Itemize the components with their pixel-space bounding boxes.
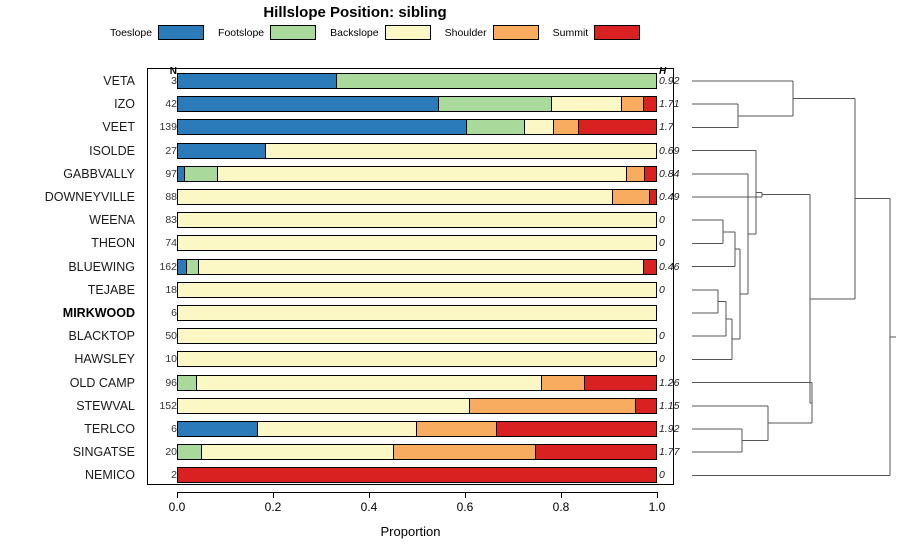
row-n-value: 42	[151, 92, 177, 116]
bar-segment-backslope	[197, 376, 542, 390]
legend-entry: Footslope	[218, 25, 316, 40]
x-axis-tick-label: 0.0	[157, 500, 197, 514]
stacked-bar	[177, 398, 657, 414]
bar-segment-backslope	[552, 97, 622, 111]
bar-segment-backslope	[178, 329, 656, 343]
row-h-value: 0	[659, 324, 693, 348]
dendrogram-svg	[690, 62, 900, 492]
legend-label: Footslope	[218, 27, 264, 39]
row-label: BLUEWING	[0, 255, 135, 279]
x-axis-tick	[369, 492, 370, 498]
bar-segment-backslope	[199, 260, 644, 274]
x-axis-title: Proportion	[147, 524, 674, 539]
stacked-bar	[177, 73, 657, 89]
row-label: DOWNEYVILLE	[0, 185, 135, 209]
bar-segment-toeslope	[178, 167, 185, 181]
stacked-bar	[177, 259, 657, 275]
legend-swatch-toeslope	[158, 25, 204, 40]
stacked-bar	[177, 189, 657, 205]
bar-segment-summit	[650, 190, 656, 204]
bar-segment-backslope	[178, 306, 656, 320]
row-h-value: 1.71	[659, 92, 693, 116]
row-label: GABBVALLY	[0, 162, 135, 186]
row-n-value: 18	[151, 278, 177, 302]
row-n-value: 20	[151, 440, 177, 464]
row-n-value: 10	[151, 347, 177, 371]
stacked-bar	[177, 375, 657, 391]
row-n-value: 162	[151, 255, 177, 279]
x-axis-tick-label: 0.8	[541, 500, 581, 514]
bar-segment-footslope	[337, 74, 656, 88]
bar-segment-shoulder	[470, 399, 636, 413]
row-label: ISOLDE	[0, 139, 135, 163]
bar-segment-toeslope	[178, 422, 258, 436]
legend-swatch-backslope	[385, 25, 431, 40]
row-label: HAWSLEY	[0, 347, 135, 371]
bar-segment-backslope	[178, 190, 613, 204]
stacked-bar	[177, 444, 657, 460]
row-label: STEWVAL	[0, 394, 135, 418]
row-label: NEMICO	[0, 463, 135, 487]
stacked-bar	[177, 421, 657, 437]
x-axis-line	[177, 492, 657, 493]
row-n-value: 2	[151, 463, 177, 487]
row-label: VEET	[0, 115, 135, 139]
stacked-bar	[177, 212, 657, 228]
bar-segment-footslope	[178, 376, 197, 390]
stacked-bar	[177, 143, 657, 159]
legend: ToeslopeFootslopeBackslopeShoulderSummit	[110, 25, 710, 40]
stacked-bar	[177, 96, 657, 112]
x-axis-tick	[561, 492, 562, 498]
bar-segment-summit	[585, 376, 656, 390]
row-h-value: 0	[659, 231, 693, 255]
bar-segment-backslope	[178, 213, 656, 227]
row-h-value: 0.84	[659, 162, 693, 186]
row-h-value: 1.92	[659, 417, 693, 441]
legend-swatch-summit	[594, 25, 640, 40]
row-h-value: 1.26	[659, 371, 693, 395]
stacked-bar	[177, 166, 657, 182]
stacked-bar	[177, 235, 657, 251]
row-n-value: 74	[151, 231, 177, 255]
bar-segment-backslope	[258, 422, 417, 436]
legend-label: Toeslope	[110, 27, 152, 39]
row-n-value: 96	[151, 371, 177, 395]
row-h-value: 1.7	[659, 115, 693, 139]
bar-segment-summit	[636, 399, 656, 413]
bar-segment-summit	[645, 167, 656, 181]
legend-swatch-footslope	[270, 25, 316, 40]
x-axis-tick-label: 0.2	[253, 500, 293, 514]
bar-segment-shoulder	[554, 120, 579, 134]
dendrogram	[690, 62, 900, 492]
row-label: TEJABE	[0, 278, 135, 302]
legend-entry: Backslope	[330, 25, 430, 40]
bar-segment-toeslope	[178, 74, 337, 88]
stacked-bar	[177, 351, 657, 367]
stacked-bar	[177, 328, 657, 344]
legend-label: Summit	[553, 27, 589, 39]
row-n-value: 88	[151, 185, 177, 209]
row-n-value: 139	[151, 115, 177, 139]
bar-segment-summit	[644, 260, 656, 274]
row-label: IZO	[0, 92, 135, 116]
bar-segment-backslope	[178, 352, 656, 366]
row-h-value: 0	[659, 463, 693, 487]
bar-segment-summit	[178, 468, 656, 482]
legend-entry: Summit	[553, 25, 641, 40]
chart-title: Hillslope Position: sibling	[0, 4, 710, 21]
bar-segment-toeslope	[178, 260, 187, 274]
bar-segment-shoulder	[627, 167, 645, 181]
bar-segment-shoulder	[394, 445, 536, 459]
bar-segment-toeslope	[178, 97, 439, 111]
row-label: WEENA	[0, 208, 135, 232]
row-h-value: 0	[659, 208, 693, 232]
bar-segment-footslope	[185, 167, 218, 181]
bar-segment-summit	[497, 422, 656, 436]
bar-segment-shoulder	[417, 422, 497, 436]
row-h-value: 0.69	[659, 139, 693, 163]
bar-segment-summit	[536, 445, 656, 459]
bar-segment-backslope	[178, 283, 656, 297]
row-h-value: 0	[659, 278, 693, 302]
x-axis-tick-label: 1.0	[637, 500, 677, 514]
row-n-value: 83	[151, 208, 177, 232]
x-axis-tick	[177, 492, 178, 498]
row-n-value: 6	[151, 301, 177, 325]
row-label: SINGATSE	[0, 440, 135, 464]
row-label: OLD CAMP	[0, 371, 135, 395]
row-label: BLACKTOP	[0, 324, 135, 348]
row-label: VETA	[0, 69, 135, 93]
stacked-bar	[177, 119, 657, 135]
x-axis-tick	[657, 492, 658, 498]
row-h-value: 0	[659, 347, 693, 371]
bar-segment-summit	[579, 120, 655, 134]
row-label: THEON	[0, 231, 135, 255]
legend-label: Backslope	[330, 27, 378, 39]
legend-entry: Toeslope	[110, 25, 204, 40]
bar-segment-shoulder	[542, 376, 585, 390]
bar-segment-shoulder	[622, 97, 644, 111]
row-n-value: 50	[151, 324, 177, 348]
bar-segment-toeslope	[178, 144, 266, 158]
x-axis-tick	[273, 492, 274, 498]
bar-segment-backslope	[266, 144, 656, 158]
bar-segment-footslope	[467, 120, 525, 134]
row-n-value: 97	[151, 162, 177, 186]
bar-segment-footslope	[187, 260, 200, 274]
row-h-value: 0.46	[659, 255, 693, 279]
row-n-value: 152	[151, 394, 177, 418]
bar-segment-backslope	[202, 445, 394, 459]
bar-segment-toeslope	[178, 120, 467, 134]
row-h-value: 1.15	[659, 394, 693, 418]
x-axis-tick	[465, 492, 466, 498]
bar-segment-backslope	[525, 120, 555, 134]
stacked-bar	[177, 467, 657, 483]
bar-segment-summit	[644, 97, 656, 111]
stacked-bar	[177, 305, 657, 321]
row-label: TERLCO	[0, 417, 135, 441]
bar-segment-footslope	[178, 445, 202, 459]
row-n-value: 27	[151, 139, 177, 163]
legend-entry: Shoulder	[445, 25, 539, 40]
x-axis-tick-label: 0.6	[445, 500, 485, 514]
row-n-value: 3	[151, 69, 177, 93]
bar-segment-footslope	[439, 97, 552, 111]
bar-segment-backslope	[218, 167, 628, 181]
legend-label: Shoulder	[445, 27, 487, 39]
bar-segment-shoulder	[613, 190, 650, 204]
legend-swatch-shoulder	[493, 25, 539, 40]
bar-segment-backslope	[178, 236, 656, 250]
row-label: MIRKWOOD	[0, 301, 135, 325]
row-h-value: 1.77	[659, 440, 693, 464]
bar-segment-backslope	[178, 399, 470, 413]
row-h-value: 0.92	[659, 69, 693, 93]
x-axis-tick-label: 0.4	[349, 500, 389, 514]
stacked-bar	[177, 282, 657, 298]
row-h-value: 0.49	[659, 185, 693, 209]
row-n-value: 6	[151, 417, 177, 441]
